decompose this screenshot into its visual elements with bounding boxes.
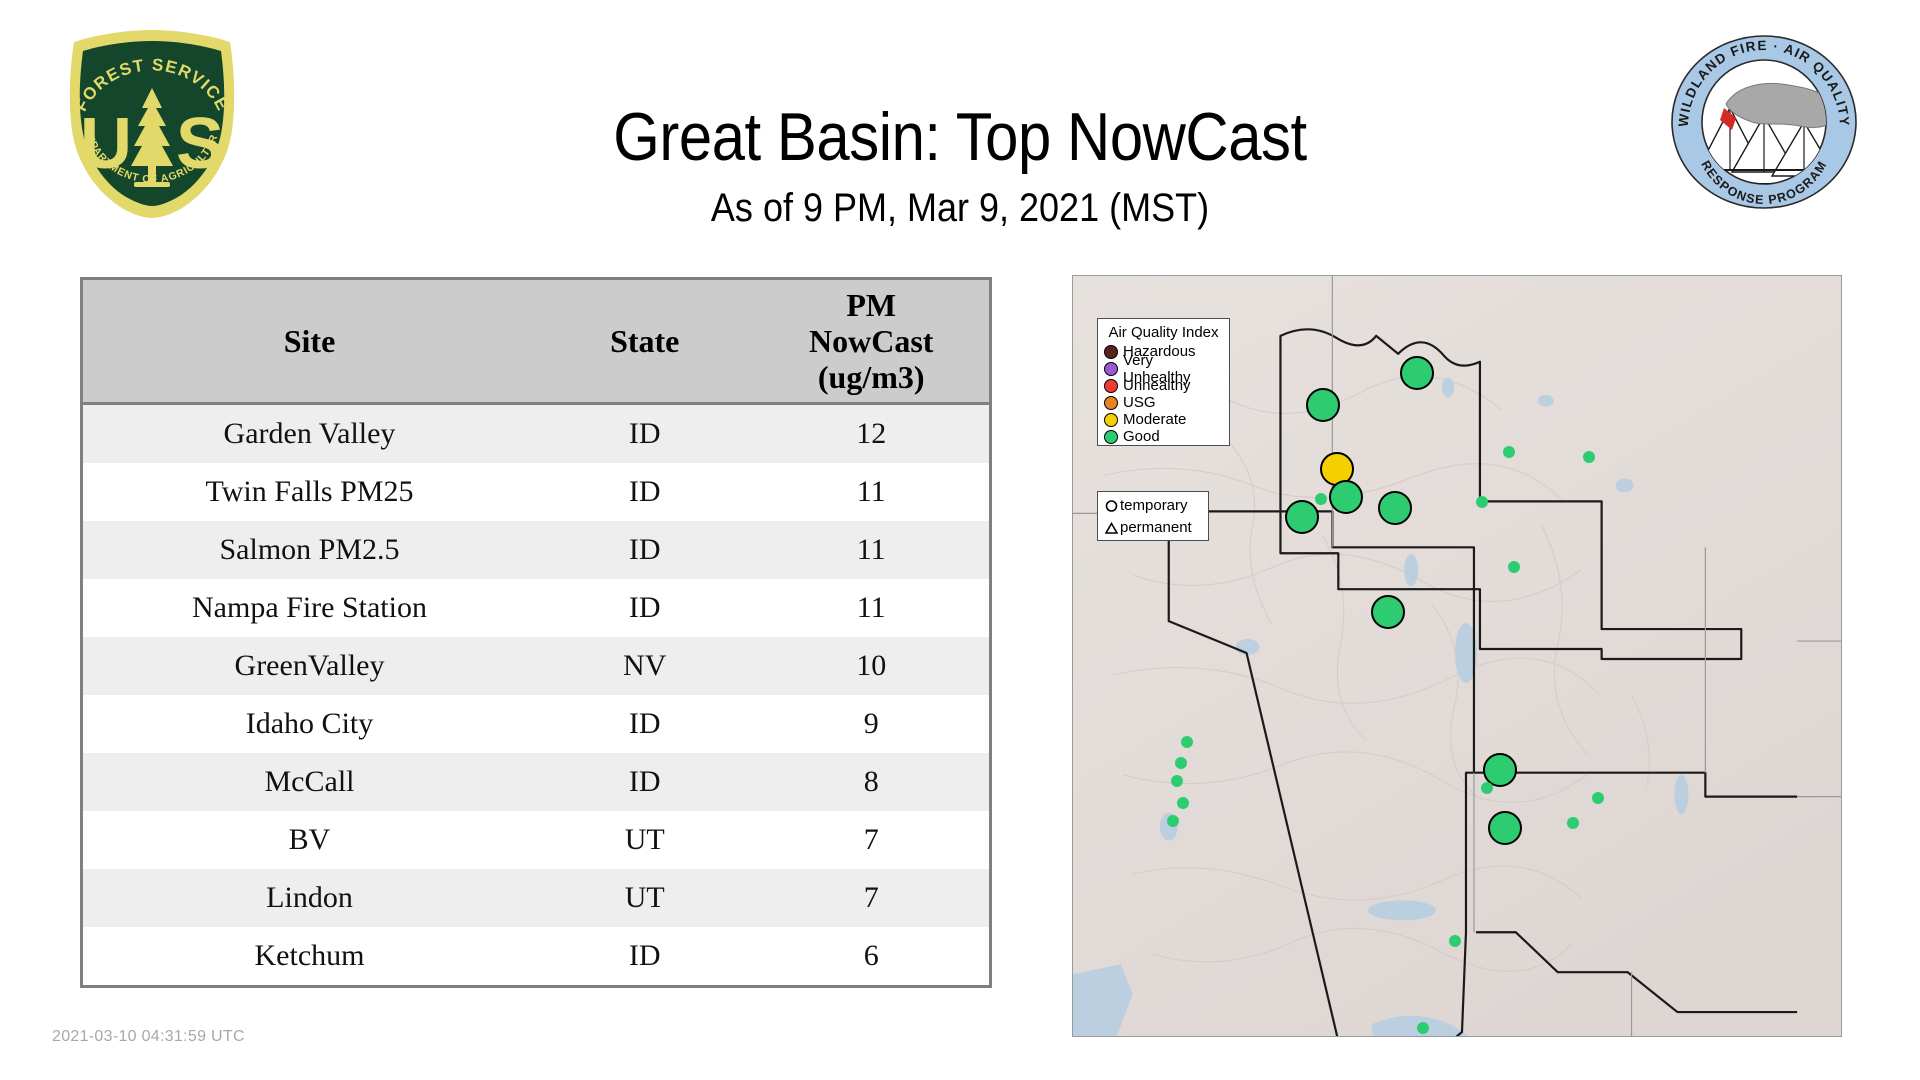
triangle-outline-icon [1102,522,1120,535]
pm-value-cell: 11 [753,521,989,579]
page-subtitle: As of 9 PM, Mar 9, 2021 (MST) [420,185,1500,231]
pm-value-cell: 11 [753,579,989,637]
generated-timestamp: 2021-03-10 04:31:59 UTC [52,1028,245,1046]
table-row[interactable]: McCallID8 [83,753,989,811]
column-header-pm-line2: NowCast [809,323,933,359]
table-row[interactable]: LindonUT7 [83,869,989,927]
state-cell: UT [536,811,753,869]
circle-outline-icon [1102,500,1120,513]
monitor-marker-small[interactable] [1175,757,1187,769]
monitor-marker-small[interactable] [1315,493,1327,505]
monitor-map-panel[interactable]: Air Quality Index HazardousVery Unhealth… [1072,275,1842,1037]
monitor-marker-small[interactable] [1481,782,1493,794]
monitor-marker-small[interactable] [1583,451,1595,463]
monitor-marker-small[interactable] [1503,446,1515,458]
aqi-legend-items: HazardousVery UnhealthyUnhealthyUSGModer… [1104,343,1223,445]
column-header-state[interactable]: State [536,280,753,404]
monitor-marker-small[interactable] [1181,736,1193,748]
wfaqrp-seal-logo: WILDLAND FIRE · AIR QUALITY RESPONSE PRO… [1668,30,1860,210]
aqi-legend-label: Moderate [1123,411,1186,428]
aqi-swatch-icon [1104,345,1118,359]
nowcast-table-panel: Site State PM NowCast (ug/m3) Garden Val… [80,277,992,988]
aqi-swatch-icon [1104,413,1118,427]
state-cell: NV [536,637,753,695]
table-row[interactable]: Salmon PM2.5ID11 [83,521,989,579]
table-header: Site State PM NowCast (ug/m3) [83,280,989,404]
site-cell: Ketchum [83,927,536,985]
table-body: Garden ValleyID12Twin Falls PM25ID11Salm… [83,404,989,986]
monitor-marker-small[interactable] [1177,797,1189,809]
aqi-legend-item: USG [1104,394,1223,411]
state-cell: ID [536,579,753,637]
site-cell: Twin Falls PM25 [83,463,536,521]
aqi-legend-label: USG [1123,394,1156,411]
state-cell: ID [536,695,753,753]
usfs-shield-logo: FOREST SERVICE DEPARTMENT OF AGRICULTURE… [52,26,252,221]
monitor-marker-small[interactable] [1508,561,1520,573]
monitor-marker-good[interactable] [1371,595,1405,629]
state-cell: ID [536,404,753,464]
site-cell: Salmon PM2.5 [83,521,536,579]
aqi-legend-item: Good [1104,428,1223,445]
monitor-marker-good[interactable] [1329,480,1363,514]
monitor-marker-small[interactable] [1476,496,1488,508]
state-cell: ID [536,753,753,811]
monitor-marker-good[interactable] [1285,500,1319,534]
monitor-marker-good[interactable] [1400,356,1434,390]
aqi-legend-item: Very Unhealthy [1104,360,1223,377]
site-cell: BV [83,811,536,869]
pm-value-cell: 11 [753,463,989,521]
column-header-pm-nowcast[interactable]: PM NowCast (ug/m3) [753,280,989,404]
aqi-swatch-icon [1104,362,1118,376]
aqi-legend: Air Quality Index HazardousVery Unhealth… [1097,318,1230,446]
pm-value-cell: 8 [753,753,989,811]
aqi-legend-item: Moderate [1104,411,1223,428]
site-cell: GreenValley [83,637,536,695]
svg-text:S: S [176,104,224,184]
aqi-swatch-icon [1104,396,1118,410]
aqi-swatch-icon [1104,430,1118,444]
table-row[interactable]: GreenValleyNV10 [83,637,989,695]
site-cell: McCall [83,753,536,811]
monitor-marker-small[interactable] [1449,935,1461,947]
site-cell: Garden Valley [83,404,536,464]
monitor-marker-good[interactable] [1488,811,1522,845]
state-cell: ID [536,521,753,579]
pm-value-cell: 10 [753,637,989,695]
aqi-legend-title: Air Quality Index [1104,324,1223,341]
column-header-pm-line3: (ug/m3) [818,359,925,395]
monitor-marker-small[interactable] [1171,775,1183,787]
page-header: FOREST SERVICE DEPARTMENT OF AGRICULTURE… [0,0,1920,250]
nowcast-table: Site State PM NowCast (ug/m3) Garden Val… [83,280,989,985]
aqi-legend-label: Good [1123,428,1160,445]
monitor-marker-small[interactable] [1567,817,1579,829]
monitor-marker-good[interactable] [1378,491,1412,525]
monitor-marker-small[interactable] [1167,815,1179,827]
pm-value-cell: 7 [753,811,989,869]
table-row[interactable]: BVUT7 [83,811,989,869]
table-row[interactable]: Nampa Fire StationID11 [83,579,989,637]
site-cell: Lindon [83,869,536,927]
pm-value-cell: 9 [753,695,989,753]
state-cell: ID [536,927,753,985]
svg-text:U: U [80,104,132,184]
legend-label-permanent: permanent [1120,517,1192,539]
page-title: Great Basin: Top NowCast [432,98,1488,176]
legend-row-temporary: temporary [1102,495,1204,517]
table-row[interactable]: Idaho CityID9 [83,695,989,753]
pm-value-cell: 7 [753,869,989,927]
site-cell: Idaho City [83,695,536,753]
monitor-marker-small[interactable] [1592,792,1604,804]
table-row[interactable]: KetchumID6 [83,927,989,985]
table-header-row: Site State PM NowCast (ug/m3) [83,280,989,404]
table-row[interactable]: Twin Falls PM25ID11 [83,463,989,521]
aqi-legend-label: Unhealthy [1123,377,1191,394]
table-row[interactable]: Garden ValleyID12 [83,404,989,464]
monitor-type-legend: temporary permanent [1097,491,1209,541]
site-cell: Nampa Fire Station [83,579,536,637]
column-header-pm-line1: PM [846,287,896,323]
pm-value-cell: 12 [753,404,989,464]
state-cell: ID [536,463,753,521]
legend-label-temporary: temporary [1120,495,1188,517]
legend-row-permanent: permanent [1102,517,1204,539]
state-cell: UT [536,869,753,927]
column-header-site[interactable]: Site [83,280,536,404]
pm-value-cell: 6 [753,927,989,985]
monitor-marker-small[interactable] [1417,1022,1429,1034]
aqi-swatch-icon [1104,379,1118,393]
monitor-marker-good[interactable] [1306,388,1340,422]
